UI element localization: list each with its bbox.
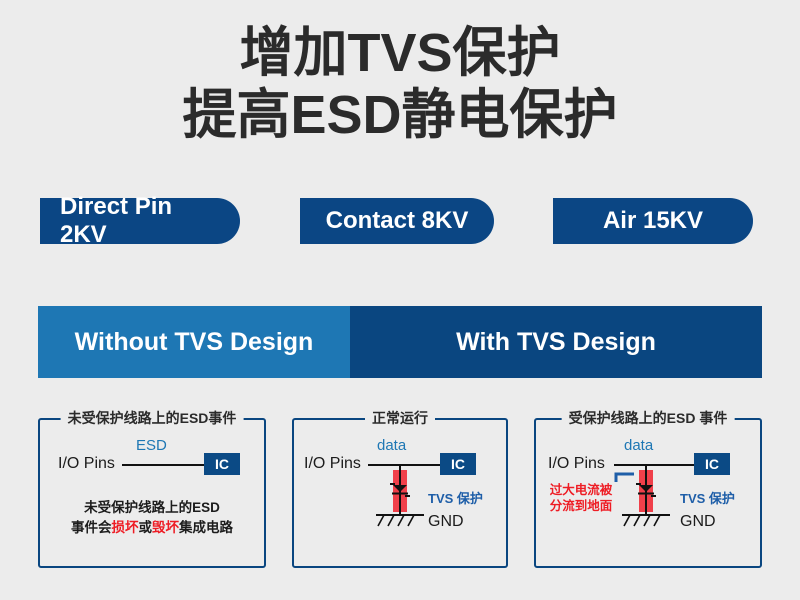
note-seg-b: 或 — [139, 520, 153, 535]
diagram-panels: 未受保护线路上的ESD事件 I/O Pins ESD IC 未受保护线路上的ES… — [38, 418, 762, 568]
signal-wire — [368, 464, 444, 466]
panel-normal-operation: 正常运行 I/O Pins data IC TV — [292, 418, 508, 568]
io-pins-label: I/O Pins — [548, 456, 605, 472]
gnd-label: GND — [428, 514, 464, 530]
io-pins-label: I/O Pins — [304, 456, 361, 472]
data-signal-label: data — [624, 438, 653, 453]
tvs-protection-label: TVS 保护 — [428, 492, 483, 505]
note-seg-a: 事件会 — [71, 520, 112, 535]
ic-box: IC — [694, 453, 730, 475]
compare-without-tvs[interactable]: Without TVS Design — [38, 306, 350, 378]
unprotected-note: 未受保护线路上的ESD 事件会损坏或毁坏集成电路 — [40, 498, 264, 537]
gnd-label: GND — [680, 514, 716, 530]
note-seg-damage-1: 损坏 — [112, 520, 139, 535]
circuit-unprotected: I/O Pins ESD IC 未受保护线路上的ESD 事件会损坏或毁坏集成电路 — [40, 420, 264, 566]
esd-signal-label: ESD — [136, 438, 167, 453]
ground-symbol — [620, 512, 672, 530]
circuit-normal: I/O Pins data IC TVS 保护 GND — [294, 420, 506, 566]
circuit-protected: I/O Pins data IC — [536, 420, 760, 566]
io-pins-label: I/O Pins — [58, 456, 115, 472]
data-signal-label: data — [377, 438, 406, 453]
tvs-diode-symbol — [386, 480, 414, 502]
overcurrent-note-line-2: 分流到地面 — [540, 498, 622, 514]
ic-box: IC — [440, 453, 476, 475]
overcurrent-note-line-1: 过大电流被 — [540, 482, 622, 498]
ground-symbol — [374, 512, 426, 530]
compare-with-tvs[interactable]: With TVS Design — [350, 306, 762, 378]
signal-wire — [122, 464, 208, 466]
note-seg-c: 集成电路 — [179, 520, 233, 535]
badge-air[interactable]: Air 15KV — [553, 198, 753, 244]
title-line-1: 增加TVS保护 — [0, 22, 800, 84]
panel-unprotected: 未受保护线路上的ESD事件 I/O Pins ESD IC 未受保护线路上的ES… — [38, 418, 266, 568]
tvs-protection-label: TVS 保护 — [680, 492, 735, 505]
unprotected-note-line-2: 事件会损坏或毁坏集成电路 — [40, 518, 264, 538]
signal-wire — [614, 464, 698, 466]
note-seg-damage-2: 毁坏 — [152, 520, 179, 535]
overcurrent-note: 过大电流被 分流到地面 — [540, 482, 622, 515]
page-title: 增加TVS保护 提高ESD静电保护 — [0, 0, 800, 146]
unprotected-note-line-1: 未受保护线路上的ESD — [40, 498, 264, 518]
panel-protected: 受保护线路上的ESD 事件 I/O Pins data IC — [534, 418, 762, 568]
badge-contact[interactable]: Contact 8KV — [300, 198, 494, 244]
title-line-2: 提高ESD静电保护 — [0, 84, 800, 146]
ic-box: IC — [204, 453, 240, 475]
comparison-header-bar: Without TVS Design With TVS Design — [38, 306, 762, 378]
spec-badge-row: Direct Pin 2KV Contact 8KV Air 15KV — [0, 198, 800, 244]
badge-direct-pin[interactable]: Direct Pin 2KV — [40, 198, 240, 244]
